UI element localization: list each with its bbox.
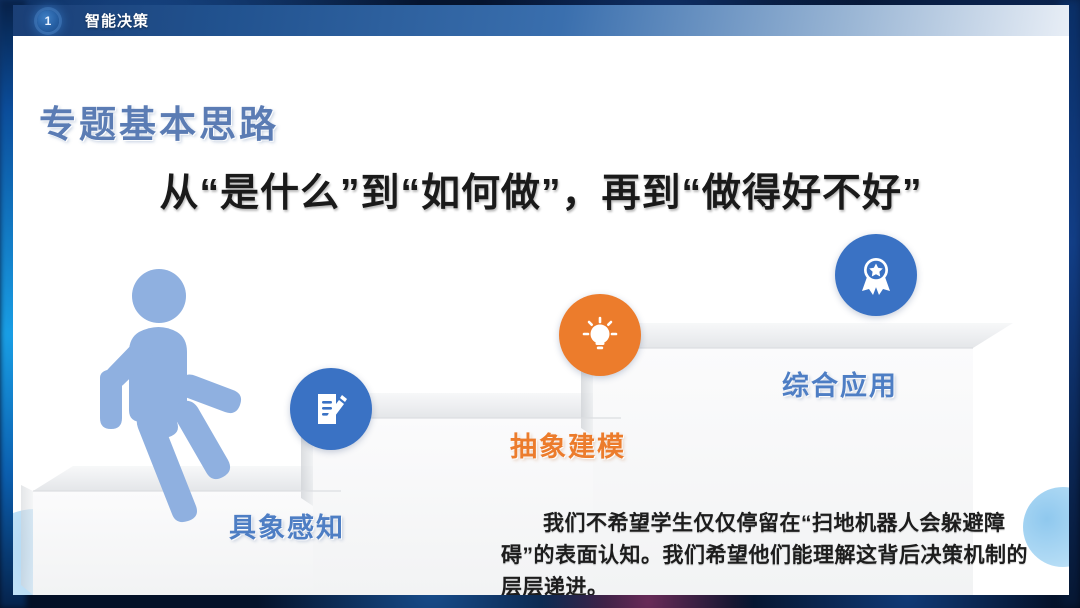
step-label-1: 具象感知 xyxy=(229,506,345,545)
section-number-label: 1 xyxy=(45,15,52,27)
document-edit-icon xyxy=(290,368,372,450)
slide-root: 1 智能决策 专题基本思路 从“是什么”到“如何做”，再到“做得好不好” xyxy=(0,0,1080,608)
slide-content-card: 专题基本思路 从“是什么”到“如何做”，再到“做得好不好” xyxy=(13,36,1069,595)
award-ribbon-icon xyxy=(835,234,917,316)
lightbulb-icon xyxy=(559,294,641,376)
body-paragraph: 我们不希望学生仅仅停留在“扫地机器人会躲避障碍”的表面认知。我们希望他们能理解这… xyxy=(501,508,1029,595)
step-label-2: 抽象建模 xyxy=(510,425,626,464)
walking-person-icon xyxy=(91,264,256,526)
step-label-3: 综合应用 xyxy=(782,364,898,403)
slide-header-bar: 1 智能决策 xyxy=(13,5,1069,36)
section-title: 智能决策 xyxy=(85,10,149,31)
section-number-badge: 1 xyxy=(37,10,59,32)
